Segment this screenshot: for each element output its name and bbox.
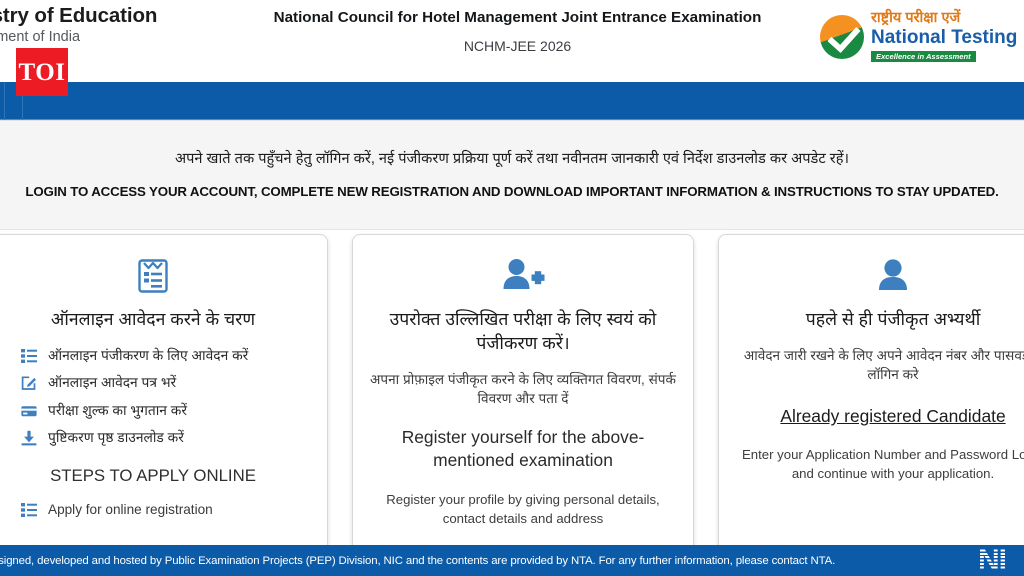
list-item[interactable]: पुष्टिकरण पृष्ठ डाउनलोड करें [21,429,311,447]
card-row: ऑनलाइन आवेदन करने के चरण ऑनलाइन पंजीकरण … [0,234,1024,552]
card-login-sub-hindi: आवेदन जारी रखने के लिए अपने आवेदन नंबर औ… [735,346,1024,385]
nta-logo-text: राष्ट्रीय परीक्षा एजें National Testing … [871,11,1017,63]
card-login-title-hindi: पहले से ही पंजीकृत अभ्यर्थी [735,308,1024,332]
nic-logo: NI [978,546,1024,576]
list-item-label: ऑनलाइन पंजीकरण के लिए आवेदन करें [48,347,248,365]
notice-banner: अपने खाते तक पहुँचने हेतु लॉगिन करें, नई… [0,120,1024,230]
nta-name-english: National Testing [871,28,1017,47]
card-steps-title-english: STEPS TO APPLY ONLINE [0,466,311,486]
main-navbar[interactable] [0,82,1024,120]
page-title: National Council for Hotel Management Jo… [255,8,780,29]
notice-text-english: LOGIN TO ACCESS YOUR ACCOUNT, COMPLETE N… [25,183,998,200]
steps-list-english: Apply for online registration [0,501,311,519]
toi-logo-text: TOI [19,60,66,85]
list-item-label: ऑनलाइन आवेदन पत्र भरें [48,374,176,392]
notice-text-hindi: अपने खाते तक पहुँचने हेतु लॉगिन करें, नई… [175,149,849,169]
card-register-title-english: Register yourself for the above-mentione… [369,426,677,473]
download-icon [21,430,37,446]
site-header: inistry of Education vernment of India N… [0,0,1024,82]
steps-list-hindi: ऑनलाइन पंजीकरण के लिए आवेदन करें ऑनलाइन … [0,347,311,447]
list-item-label: Apply for online registration [48,501,213,519]
nta-checkmark-icon [820,15,864,59]
add-user-icon [369,253,677,299]
card-register-title-hindi: उपरोक्त उल्लिखित परीक्षा के लिए स्वयं को… [369,308,677,356]
list-item[interactable]: ऑनलाइन आवेदन पत्र भरें [21,374,311,392]
navbar-divider [4,82,5,120]
card-steps-to-apply[interactable]: ऑनलाइन आवेदन करने के चरण ऑनलाइन पंजीकरण … [0,234,328,552]
list-item[interactable]: परीक्षा शुल्क का भुगतान करें [21,402,311,420]
credit-card-icon [21,403,37,419]
ministry-branding: inistry of Education vernment of India [0,4,228,46]
card-already-registered[interactable]: पहले से ही पंजीकृत अभ्यर्थी आवेदन जारी र… [718,234,1024,552]
card-login-sub-english: Enter your Application Number and Passwo… [735,445,1024,483]
ministry-name: inistry of Education [0,4,228,28]
exam-title-block: National Council for Hotel Management Jo… [255,8,780,55]
footer-credit-text: esigned, developed and hosted by Public … [0,555,835,567]
list-icon [21,502,37,518]
card-register-sub-english: Register your profile by giving personal… [369,490,677,528]
card-register-yourself[interactable]: उपरोक्त उल्लिखित परीक्षा के लिए स्वयं को… [352,234,694,552]
government-name: vernment of India [0,29,228,46]
card-steps-title-hindi: ऑनलाइन आवेदन करने के चरण [0,308,311,332]
nic-logo-text: NI [978,546,1006,576]
list-item-label: परीक्षा शुल्क का भुगतान करें [48,402,187,420]
toi-watermark-logo: TOI [16,48,68,96]
list-icon [21,348,37,364]
user-icon [735,253,1024,299]
already-registered-candidate-link[interactable]: Already registered Candidate [780,405,1005,428]
site-footer: esigned, developed and hosted by Public … [0,545,1024,576]
card-register-sub-hindi: अपना प्रोफ़ाइल पंजीकृत करने के लिए व्यक्… [369,370,677,409]
page-root: inistry of Education vernment of India N… [0,0,1024,576]
nta-logo: राष्ट्रीय परीक्षा एजें National Testing … [820,6,1024,68]
clipboard-form-icon [0,253,311,299]
edit-square-icon [21,375,37,391]
list-item-label: पुष्टिकरण पृष्ठ डाउनलोड करें [48,429,184,447]
nta-tagline: Excellence in Assessment [871,51,976,62]
exam-subtitle: NCHM-JEE 2026 [255,38,780,55]
list-item[interactable]: ऑनलाइन पंजीकरण के लिए आवेदन करें [21,347,311,365]
nta-name-hindi: राष्ट्रीय परीक्षा एजें [871,11,1017,26]
list-item[interactable]: Apply for online registration [21,501,311,519]
